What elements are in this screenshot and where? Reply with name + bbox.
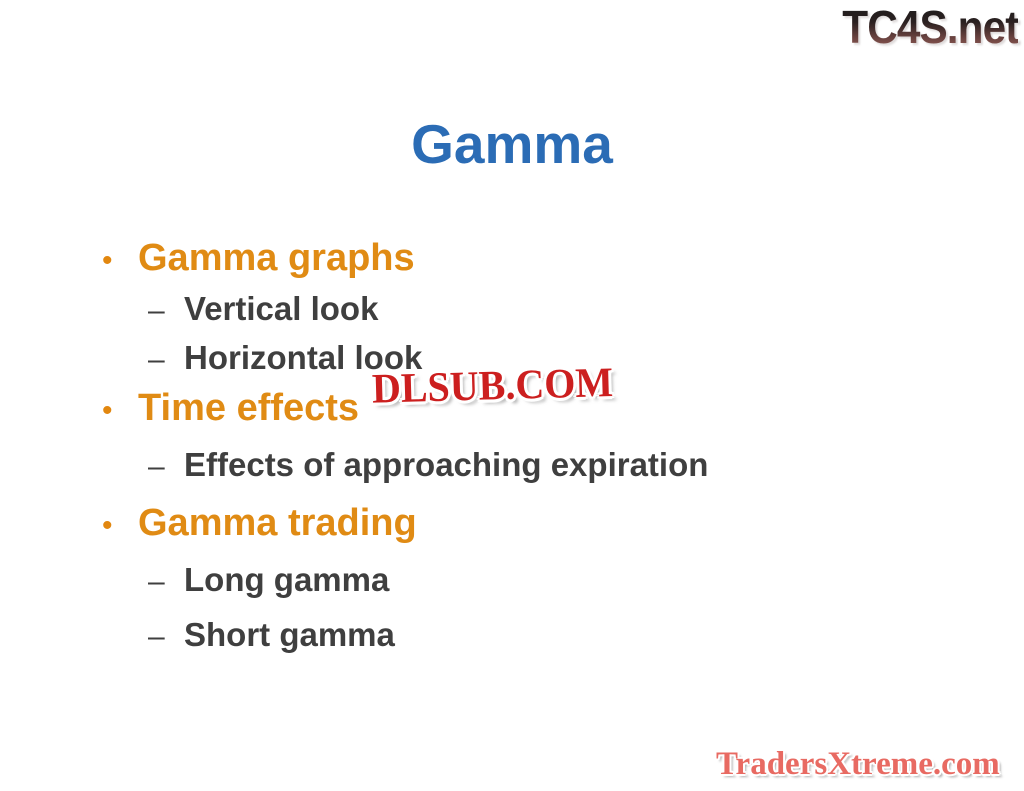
bullet-text: Gamma trading (138, 500, 417, 546)
bullet-text: Vertical look (184, 286, 378, 331)
bullet-marker-dash-icon: – (96, 614, 184, 659)
presentation-slide: TC4S.net TC4S.net Gamma • Gamma graphs –… (0, 0, 1024, 791)
bullet-item-level2: – Effects of approaching expiration (96, 442, 976, 489)
bullet-marker-dash-icon: – (96, 288, 184, 333)
bullet-item-level2: – Short gamma (96, 612, 976, 659)
slide-title: Gamma (0, 112, 1024, 176)
bullet-item-level1: • Gamma trading (96, 500, 976, 549)
watermark-dlsub: DLSUB.COM (371, 361, 613, 410)
spacer (96, 491, 976, 497)
bullet-text: Gamma graphs (138, 235, 415, 281)
bullet-marker-dash-icon: – (96, 337, 184, 382)
bullet-marker-dot-icon: • (96, 238, 138, 284)
bullet-marker-dash-icon: – (96, 444, 184, 489)
bullet-text: Long gamma (184, 557, 389, 602)
slide-body-list: • Gamma graphs – Vertical look – Horizon… (96, 232, 976, 661)
bullet-item-level2: – Long gamma (96, 557, 976, 604)
bullet-marker-dot-icon: • (96, 388, 138, 434)
bullet-marker-dash-icon: – (96, 559, 184, 604)
bullet-item-level1: • Gamma graphs (96, 235, 976, 284)
footer-logo-tradersxtreme: TradersXtreme.com (716, 746, 1000, 782)
watermark-text: DLSUB.COM (371, 360, 613, 411)
bullet-text: Short gamma (184, 612, 395, 657)
bullet-text: Time effects (138, 385, 359, 431)
bullet-marker-dot-icon: • (96, 503, 138, 549)
bullet-item-level2: – Vertical look (96, 286, 976, 333)
brand-logo-tc4s: TC4S.net (842, 2, 1018, 52)
bullet-text: Effects of approaching expiration (184, 442, 708, 487)
